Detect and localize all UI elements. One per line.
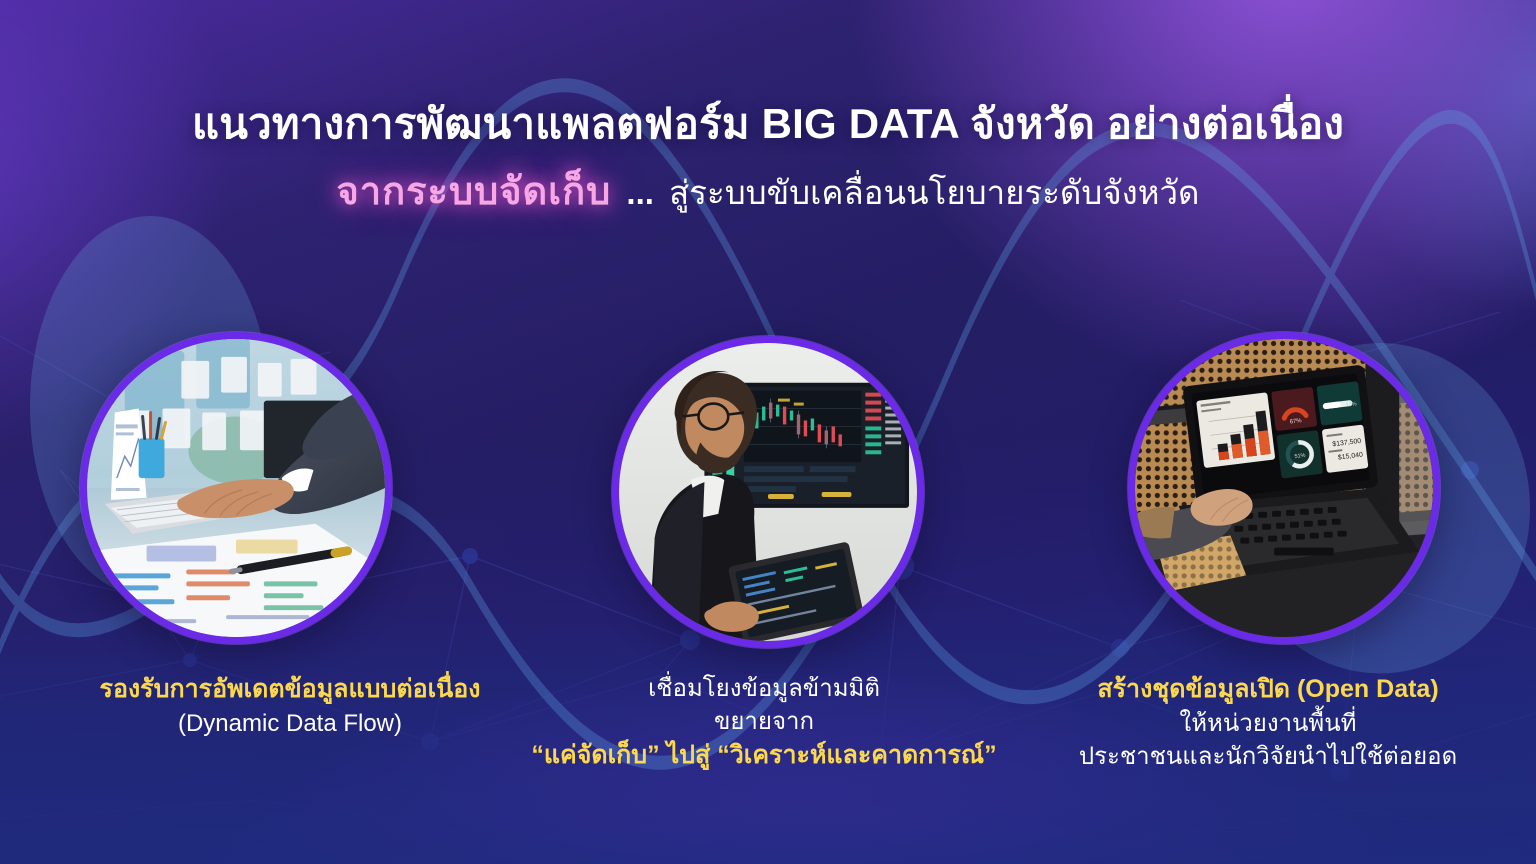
photo-circle-row: 67% 13% 51% $137,500 xyxy=(0,328,1536,658)
photo-circle-1 xyxy=(80,332,392,644)
caption-card-2: เชื่อมโยงข้อมูลข้ามมิติ ขยายจาก “แค่จัดเ… xyxy=(488,672,1040,773)
subtitle-highlight: จากระบบจัดเก็บ xyxy=(337,171,612,213)
presentation-slide: แนวทางการพัฒนาแพลตฟอร์ม BIG DATA จังหวัด… xyxy=(0,0,1536,864)
hand-on-laptop-kpi-dashboard-photo: 67% 13% 51% $137,500 xyxy=(1135,339,1433,637)
caption-2-line-1: เชื่อมโยงข้อมูลข้ามมิติ xyxy=(488,672,1040,705)
caption-2-line-3: “แค่จัดเก็บ” ไปสู่ “วิเคราะห์และคาดการณ์… xyxy=(488,738,1040,773)
photo-circle-2 xyxy=(612,336,924,648)
caption-row: รองรับการอัพเดตข้อมูลแบบต่อเนื่อง (Dynam… xyxy=(0,672,1536,812)
subtitle-ellipsis: ... xyxy=(620,174,660,211)
caption-2-line-2: ขยายจาก xyxy=(488,705,1040,738)
slide-heading-block: แนวทางการพัฒนาแพลตฟอร์ม BIG DATA จังหวัด… xyxy=(0,100,1536,216)
caption-3-line-3: ประชาชนและนักวิจัยนำไปใช้ต่อยอด xyxy=(1000,740,1536,773)
photo-circle-3: 67% 13% 51% $137,500 xyxy=(1128,332,1440,644)
page-title: แนวทางการพัฒนาแพลตฟอร์ม BIG DATA จังหวัด… xyxy=(0,100,1536,148)
subtitle-rest: สู่ระบบขับเคลื่อนนโยบายระดับจังหวัด xyxy=(669,174,1199,211)
caption-3-line-2: ให้หน่วยงานพื้นที่ xyxy=(1000,707,1536,740)
caption-3-line-1: สร้างชุดข้อมูลเปิด (Open Data) xyxy=(1000,672,1536,707)
businessman-typing-laptop-photo xyxy=(87,339,385,637)
analyst-viewing-trading-dashboard-photo xyxy=(619,343,917,641)
page-subtitle: จากระบบจัดเก็บ ... สู่ระบบขับเคลื่อนนโยบ… xyxy=(0,170,1536,216)
caption-card-3: สร้างชุดข้อมูลเปิด (Open Data) ให้หน่วยง… xyxy=(1000,672,1536,773)
